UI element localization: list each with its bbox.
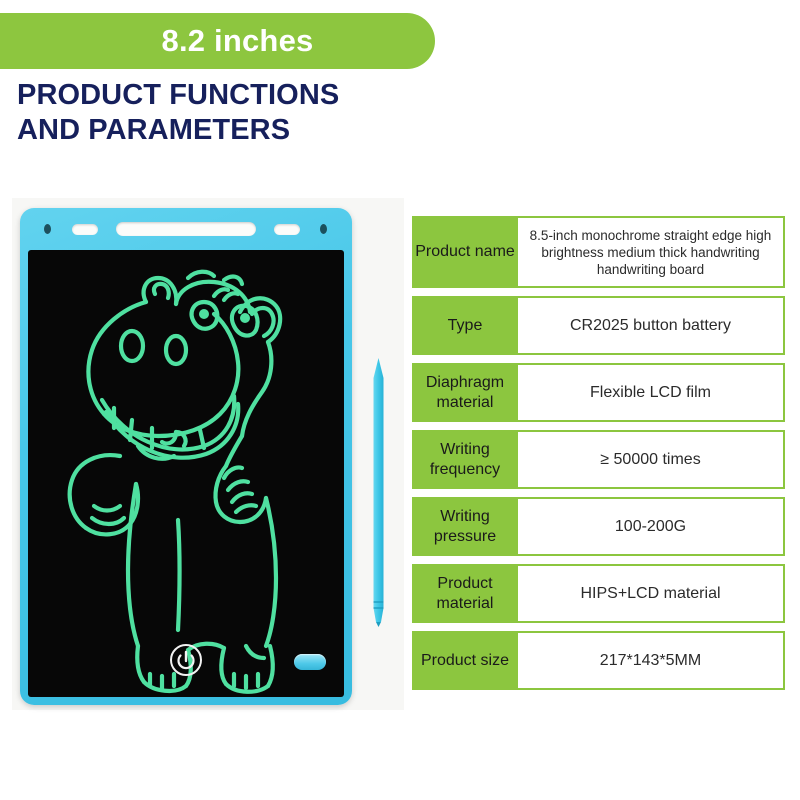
- spec-value: 8.5-inch monochrome straight edge high b…: [518, 216, 785, 288]
- table-row: Product material HIPS+LCD material: [412, 564, 785, 623]
- table-row: Product size 217*143*5MM: [412, 631, 785, 690]
- spec-value: ≥ 50000 times: [518, 430, 785, 489]
- spec-value: HIPS+LCD material: [518, 564, 785, 623]
- erase-lock-switch[interactable]: [294, 654, 326, 670]
- screw-hole-left-icon: [44, 224, 51, 234]
- spec-value: CR2025 button battery: [518, 296, 785, 355]
- page-title: PRODUCT FUNCTIONS AND PARAMETERS: [17, 78, 339, 148]
- product-photo: [12, 198, 404, 710]
- spec-table: Product name 8.5-inch monochrome straigh…: [412, 216, 785, 690]
- spec-label: Product size: [412, 631, 518, 690]
- spec-label: Type: [412, 296, 518, 355]
- table-row: Type CR2025 button battery: [412, 296, 785, 355]
- hippo-drawing: [28, 250, 344, 697]
- hanging-slot: [116, 222, 256, 236]
- page-title-line-1: PRODUCT FUNCTIONS: [17, 78, 339, 113]
- power-button[interactable]: [169, 643, 203, 677]
- spec-value: 100-200G: [518, 497, 785, 556]
- spec-label: Writing pressure: [412, 497, 518, 556]
- hanging-hole-left: [72, 224, 98, 235]
- lcd-writing-tablet: [20, 208, 352, 705]
- hanging-hole-right: [274, 224, 300, 235]
- header: 8.2 inches PRODUCT FUNCTIONS AND PARAMET…: [0, 0, 800, 180]
- spec-label: Product material: [412, 564, 518, 623]
- table-row: Diaphragm material Flexible LCD film: [412, 363, 785, 422]
- spec-label: Diaphragm material: [412, 363, 518, 422]
- tablet-top-bar: [20, 208, 352, 250]
- table-row: Writing frequency ≥ 50000 times: [412, 430, 785, 489]
- screw-hole-right-icon: [320, 224, 327, 234]
- table-row: Product name 8.5-inch monochrome straigh…: [412, 216, 785, 288]
- tablet-screen[interactable]: [28, 250, 344, 697]
- spec-label: Product name: [412, 216, 518, 288]
- size-badge: 8.2 inches: [0, 13, 435, 69]
- page-title-line-2: AND PARAMETERS: [17, 113, 339, 148]
- spec-value: Flexible LCD film: [518, 363, 785, 422]
- table-row: Writing pressure 100-200G: [412, 497, 785, 556]
- stylus-pen: [370, 356, 387, 628]
- spec-value: 217*143*5MM: [518, 631, 785, 690]
- spec-label: Writing frequency: [412, 430, 518, 489]
- size-badge-label: 8.2 inches: [122, 23, 314, 59]
